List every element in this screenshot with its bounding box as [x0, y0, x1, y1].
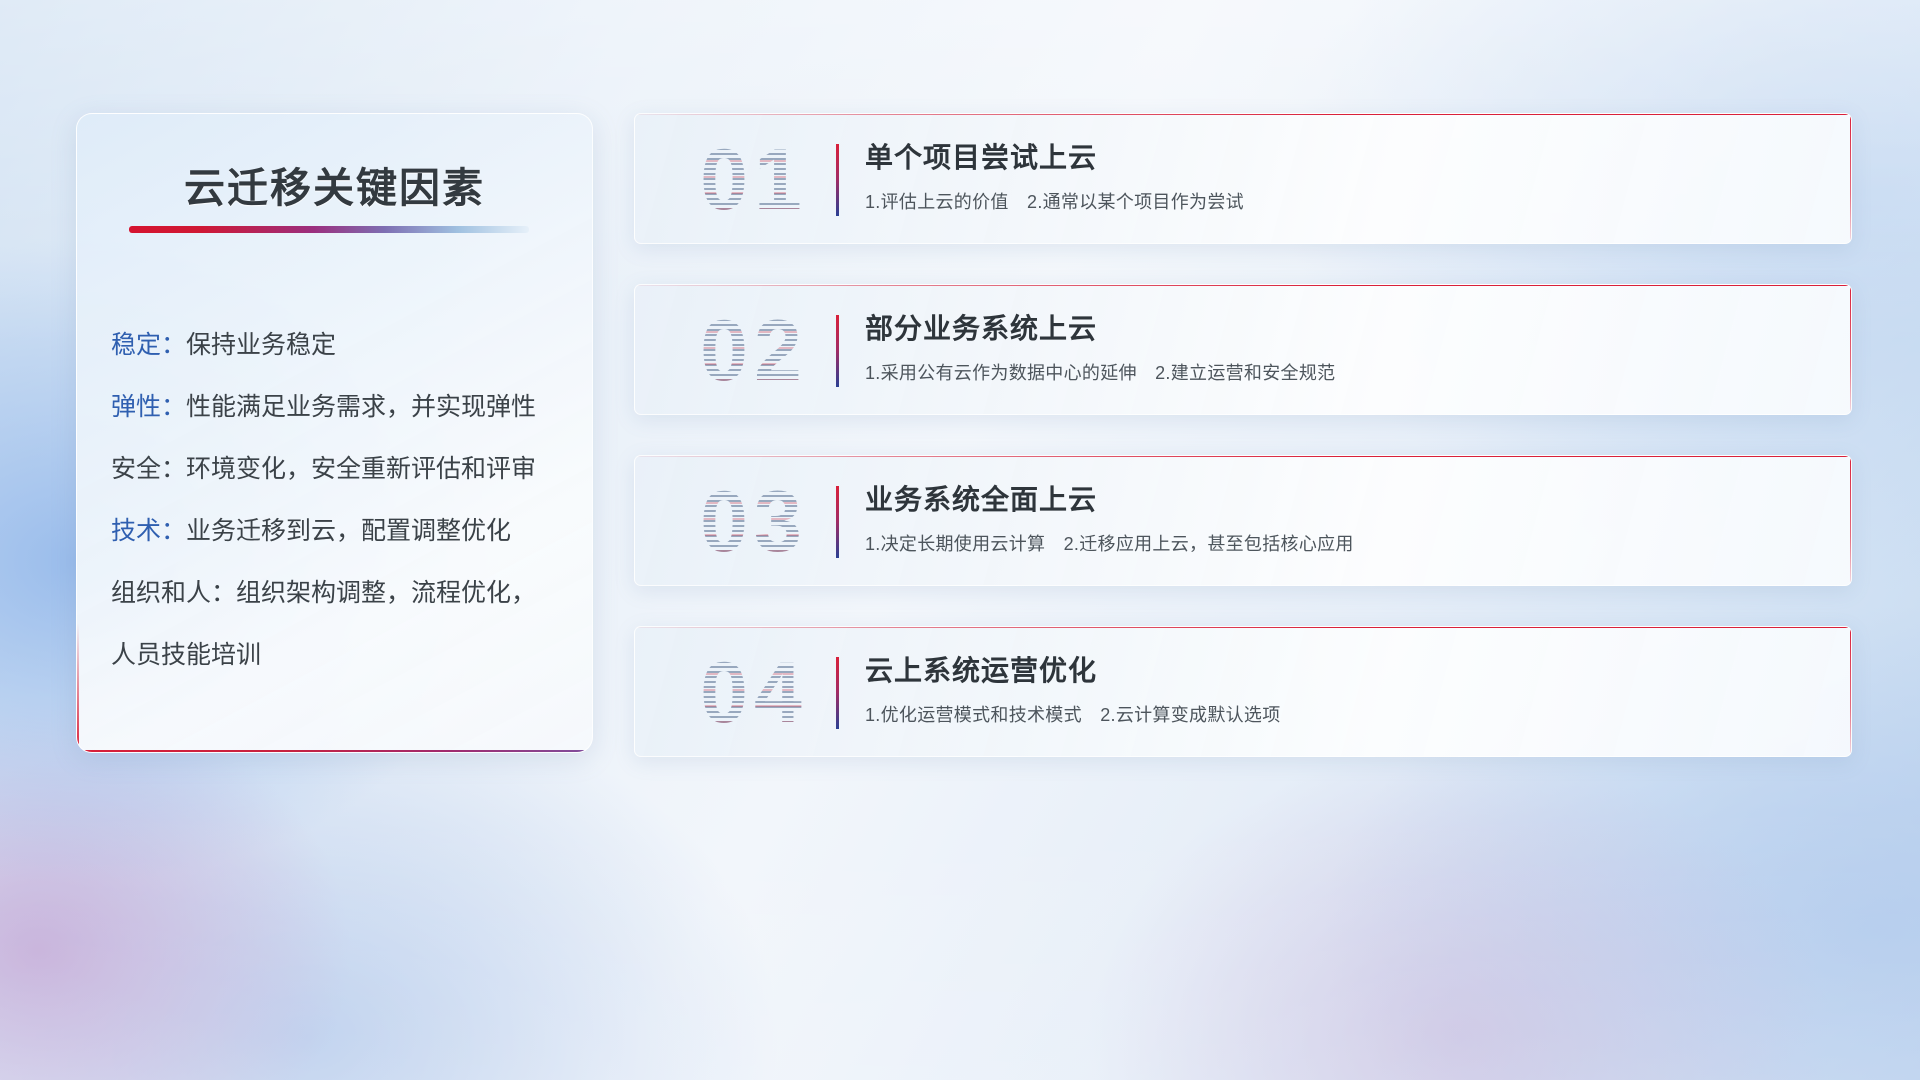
- step-title: 单个项目尝试上云: [865, 140, 1825, 176]
- step-divider: [836, 144, 839, 216]
- step-divider: [836, 315, 839, 387]
- factor-key: 稳定：: [111, 331, 186, 359]
- step-card-04[interactable]: 04 04 云上系统运营优化 1.优化运营模式和技术模式 2.云计算变成默认选项: [634, 626, 1852, 757]
- slide-root: 云迁移关键因素 稳定：保持业务稳定 弹性：性能满足业务需求，并实现弹性 安全：环…: [0, 0, 1920, 1080]
- step-number-watermark: 01: [659, 128, 849, 232]
- factor-key: 弹性：: [111, 393, 186, 421]
- list-item: 技术：业务迁移到云，配置调整优化: [111, 500, 568, 562]
- step-text-block: 云上系统运营优化 1.优化运营模式和技术模式 2.云计算变成默认选项: [865, 653, 1825, 727]
- step-title: 云上系统运营优化: [865, 653, 1825, 689]
- key-factors-panel: 云迁移关键因素 稳定：保持业务稳定 弹性：性能满足业务需求，并实现弹性 安全：环…: [76, 113, 593, 753]
- step-text-block: 部分业务系统上云 1.采用公有云作为数据中心的延伸 2.建立运营和安全规范: [865, 311, 1825, 385]
- step-divider: [836, 486, 839, 558]
- factor-value: 保持业务稳定: [186, 331, 336, 359]
- factor-value: 业务迁移到云，配置调整优化: [186, 517, 511, 545]
- step-subtitle: 1.评估上云的价值 2.通常以某个项目作为尝试: [865, 190, 1825, 214]
- list-item: 组织和人：组织架构调整，流程优化，: [111, 562, 568, 624]
- step-text-block: 单个项目尝试上云 1.评估上云的价值 2.通常以某个项目作为尝试: [865, 140, 1825, 214]
- step-card-03[interactable]: 03 03 业务系统全面上云 1.决定长期使用云计算 2.迁移应用上云，甚至包括…: [634, 455, 1852, 586]
- factor-key: 组织和人：: [111, 579, 236, 607]
- factor-list: 稳定：保持业务稳定 弹性：性能满足业务需求，并实现弹性 安全：环境变化，安全重新…: [111, 314, 568, 686]
- factor-key: 技术：: [111, 517, 186, 545]
- factor-key: 安全：: [111, 455, 186, 483]
- list-item: 人员技能培训: [111, 624, 568, 686]
- step-number-watermark: 03: [659, 470, 849, 574]
- step-number-watermark: 04: [659, 641, 849, 745]
- step-card-02[interactable]: 02 02 部分业务系统上云 1.采用公有云作为数据中心的延伸 2.建立运营和安…: [634, 284, 1852, 415]
- migration-steps: 01 01 单个项目尝试上云 1.评估上云的价值 2.通常以某个项目作为尝试 0…: [634, 113, 1852, 797]
- step-text-block: 业务系统全面上云 1.决定长期使用云计算 2.迁移应用上云，甚至包括核心应用: [865, 482, 1825, 556]
- step-title: 业务系统全面上云: [865, 482, 1825, 518]
- step-title: 部分业务系统上云: [865, 311, 1825, 347]
- page-title: 云迁移关键因素: [77, 154, 592, 214]
- list-item: 弹性：性能满足业务需求，并实现弹性: [111, 376, 568, 438]
- factor-value: 人员技能培训: [111, 641, 261, 669]
- step-divider: [836, 657, 839, 729]
- step-subtitle: 1.优化运营模式和技术模式 2.云计算变成默认选项: [865, 703, 1825, 727]
- step-subtitle: 1.决定长期使用云计算 2.迁移应用上云，甚至包括核心应用: [865, 532, 1825, 556]
- title-accent-rule: [129, 226, 529, 233]
- step-number-watermark: 02: [659, 299, 849, 403]
- factor-value: 组织架构调整，流程优化，: [236, 579, 536, 607]
- factor-value: 环境变化，安全重新评估和评审: [186, 455, 536, 483]
- step-card-01[interactable]: 01 01 单个项目尝试上云 1.评估上云的价值 2.通常以某个项目作为尝试: [634, 113, 1852, 244]
- step-subtitle: 1.采用公有云作为数据中心的延伸 2.建立运营和安全规范: [865, 361, 1825, 385]
- list-item: 稳定：保持业务稳定: [111, 314, 568, 376]
- factor-value: 性能满足业务需求，并实现弹性: [186, 393, 536, 421]
- list-item: 安全：环境变化，安全重新评估和评审: [111, 438, 568, 500]
